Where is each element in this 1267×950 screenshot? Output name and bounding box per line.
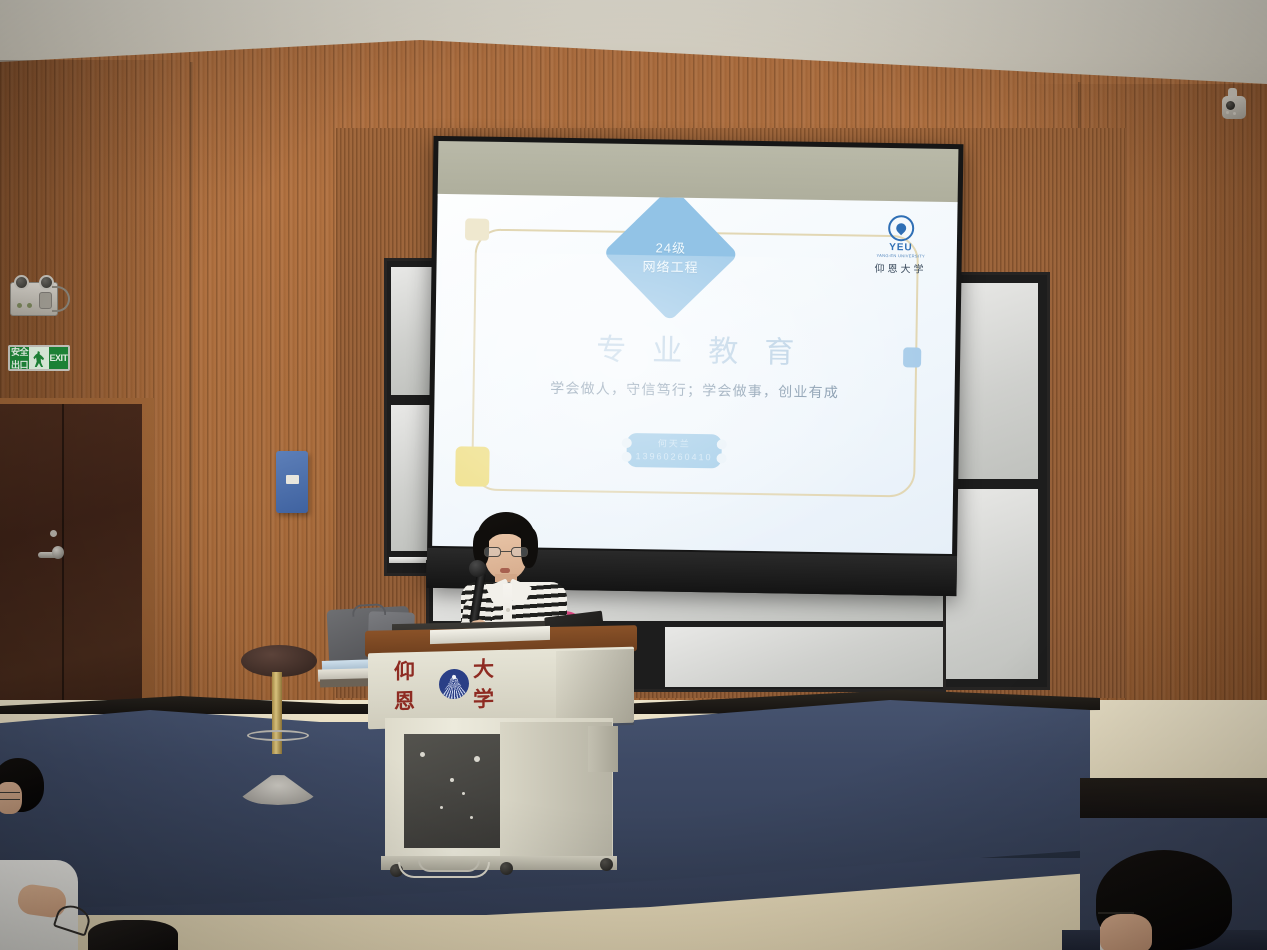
exit-label-cn: 安全出口 <box>10 345 29 371</box>
audience-left-glasses-icon <box>0 792 20 800</box>
running-man-exit-icon <box>29 347 49 369</box>
logo-subtitle: YANG-EN UNIVERSITY <box>863 253 939 259</box>
whiteboard-panel <box>946 489 1038 679</box>
slide-title: 专业教育 <box>495 323 896 373</box>
camera-lens <box>1226 101 1235 110</box>
door-knob[interactable] <box>52 546 64 559</box>
podium-equipment-box <box>588 726 618 772</box>
lecture-hall-photo: 24级 网络工程 专业教育 学会做人，守信笃行；学会做事，创业有成 何天兰 13… <box>0 0 1267 950</box>
logo-chinese-name: 仰恩大学 <box>862 260 938 276</box>
podium-dark-panel <box>404 734 500 848</box>
slide-university-logo: YEU YANG-EN UNIVERSITY 仰恩大学 <box>862 215 939 276</box>
presenter-name: 何天兰 <box>658 437 691 451</box>
university-emblem-icon <box>888 215 914 241</box>
podium-cable-secondary <box>418 860 480 872</box>
emergency-light-icon <box>10 282 58 316</box>
exit-sign: 安全出口 EXIT <box>8 345 70 371</box>
audience-right-glasses-icon <box>1098 912 1134 922</box>
exit-label-en: EXIT <box>49 353 68 363</box>
bar-stool-stem <box>272 672 282 754</box>
bar-stool-footring <box>247 730 309 741</box>
podium-caster <box>500 862 513 875</box>
presenter-phone: 13960260410 <box>635 450 712 465</box>
door-lock-icon <box>50 530 57 537</box>
screen-surface: 24级 网络工程 专业教育 学会做人，守信笃行；学会做事，创业有成 何天兰 13… <box>432 194 957 554</box>
decor-square-blue <box>903 347 921 367</box>
presenter-mouth <box>500 568 510 573</box>
whiteboard-panel <box>665 627 943 687</box>
podium-caster <box>600 858 613 871</box>
diamond-line-1: 24级 <box>655 240 686 259</box>
diamond-line-2: 网络工程 <box>642 258 698 278</box>
presenter-name-badge: 何天兰 13960260410 <box>626 433 722 468</box>
sunburst-mountain-emblem-icon <box>439 669 469 700</box>
bag-handle <box>352 603 387 617</box>
podium-branding: 仰恩 大学 <box>394 664 514 703</box>
blue-panel-label <box>286 475 299 484</box>
right-wall-base <box>1080 778 1267 818</box>
podium-name-right: 大学 <box>473 652 514 713</box>
decor-square-cream <box>465 218 489 240</box>
podium-name-left: 仰恩 <box>394 655 435 716</box>
decor-square-yellow <box>455 446 490 487</box>
class-diamond-text: 24级 网络工程 <box>622 215 719 302</box>
presenter-glasses-icon <box>484 547 528 557</box>
audience-left-dark-hair <box>88 920 178 950</box>
podium-face-shadow <box>556 649 634 727</box>
presentation-slide: 24级 网络工程 专业教育 学会做人，守信笃行；学会做事，创业有成 何天兰 13… <box>432 194 957 554</box>
